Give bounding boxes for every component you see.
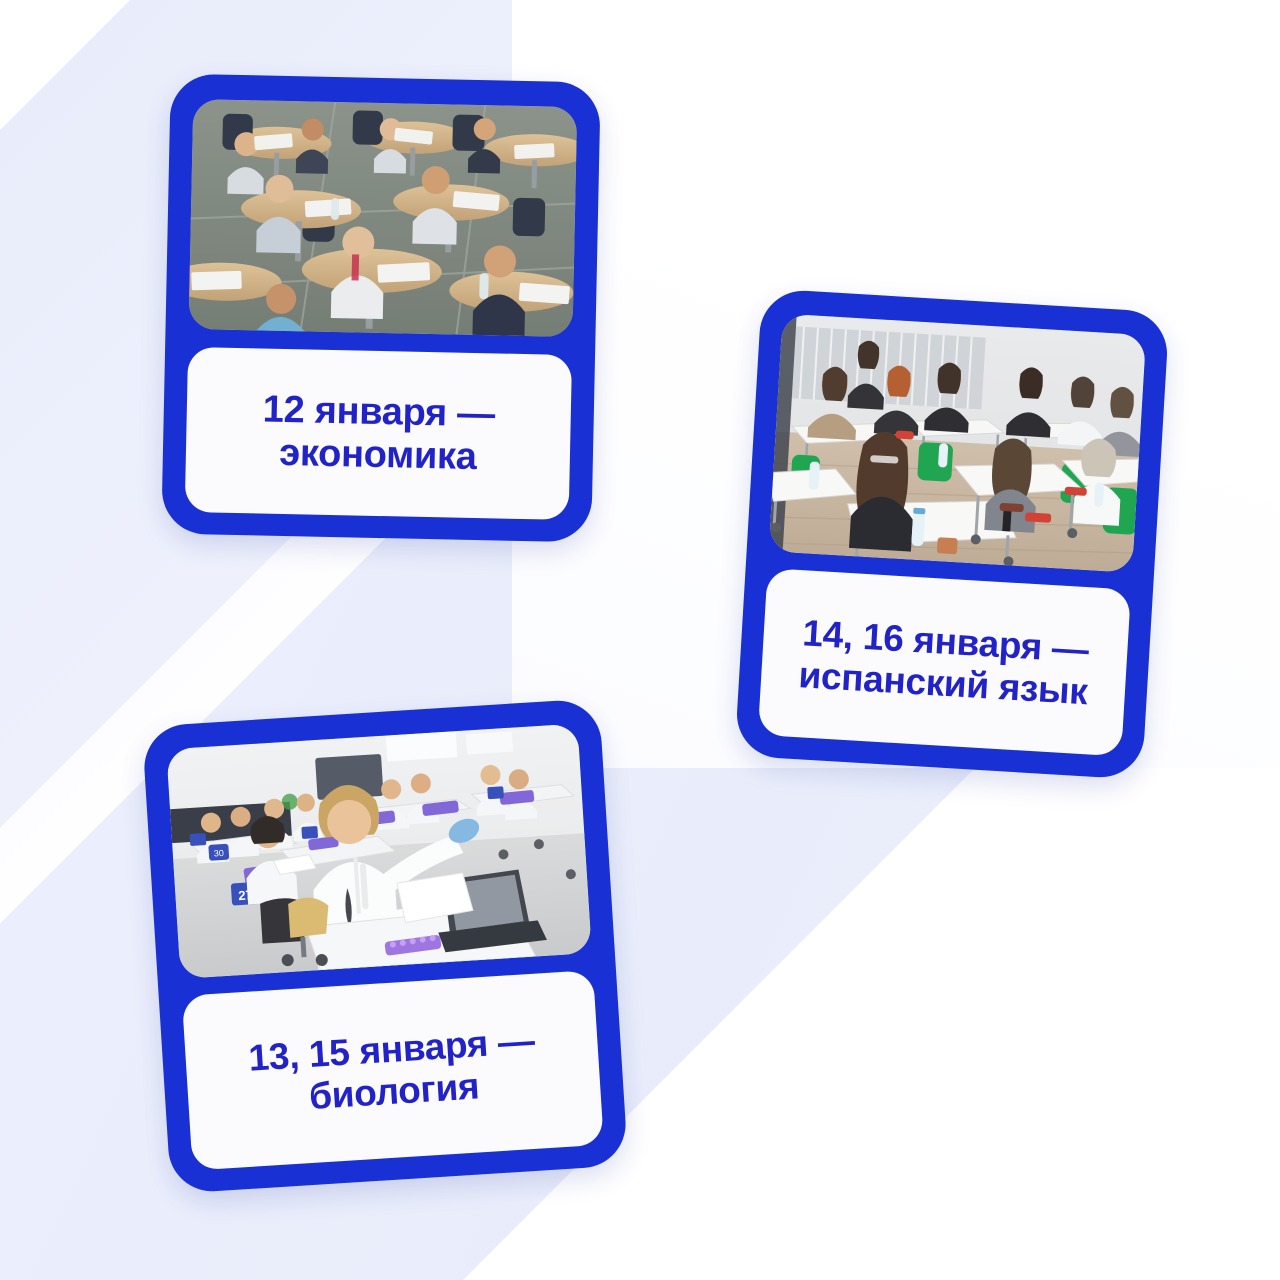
card-economics-caption-line-1: 12 января — bbox=[262, 389, 495, 436]
poster-canvas: 12 января — экономика bbox=[0, 0, 1280, 1280]
card-spanish[interactable]: 14, 16 января — испанский язык bbox=[734, 288, 1169, 779]
biology-lab-students-photo: 30 27 bbox=[166, 723, 592, 978]
exam-hall-round-tables-photo bbox=[189, 99, 578, 337]
card-biology[interactable]: 30 27 bbox=[142, 698, 628, 1194]
classroom-desks-students-photo bbox=[769, 314, 1146, 573]
card-biology-caption: 13, 15 января — биология bbox=[182, 970, 604, 1171]
card-economics-caption-line-2: экономика bbox=[261, 431, 494, 478]
card-economics[interactable]: 12 января — экономика bbox=[161, 74, 601, 543]
card-economics-caption: 12 января — экономика bbox=[185, 347, 572, 520]
card-spanish-caption: 14, 16 января — испанский язык bbox=[758, 568, 1131, 756]
